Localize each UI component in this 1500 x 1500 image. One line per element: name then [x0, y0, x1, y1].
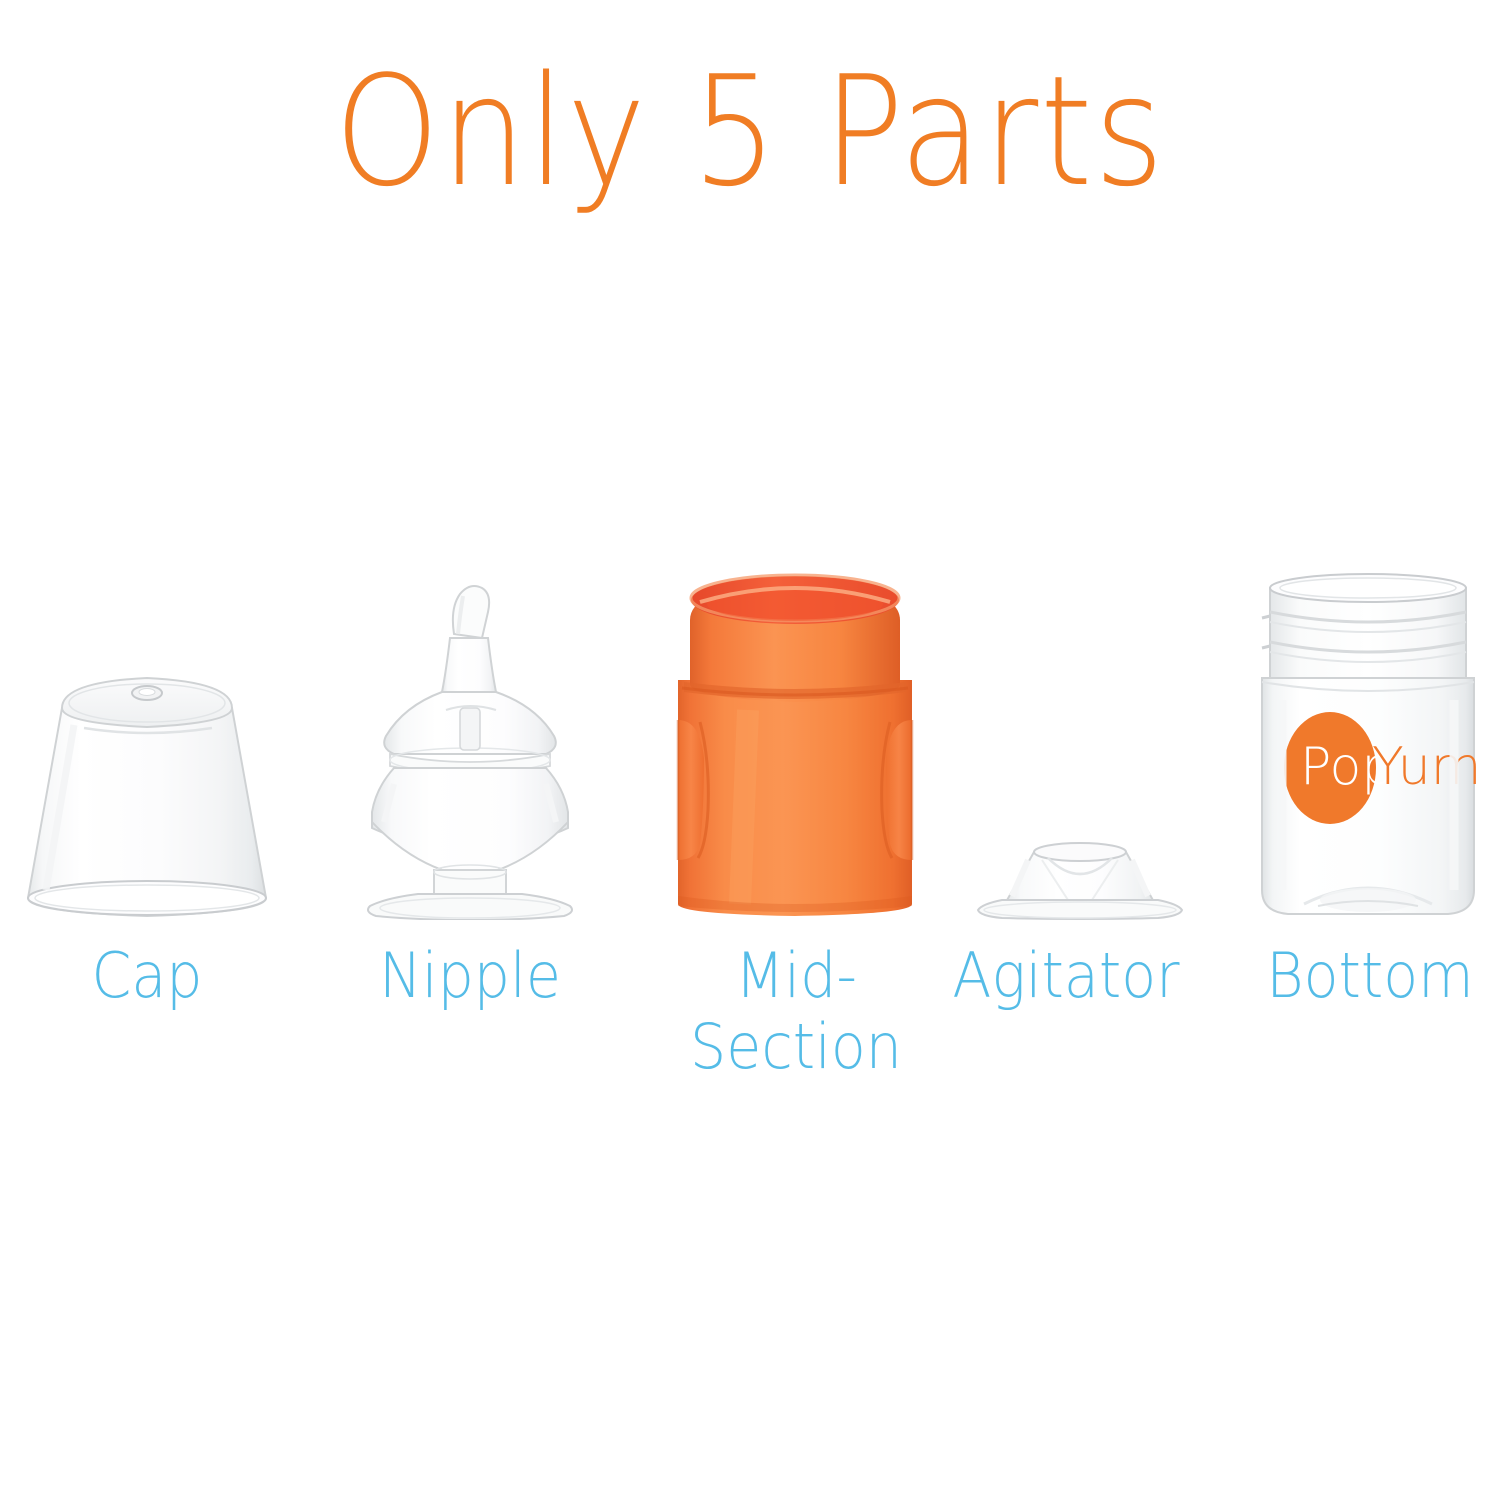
label-agitator: Agitator: [939, 940, 1193, 1011]
parts-row: Pop Yum: [0, 560, 1500, 920]
label-cap: Cap: [32, 940, 262, 1011]
label-bottom: Bottom: [1256, 940, 1484, 1011]
bottle-nipple-icon: [350, 560, 590, 920]
bottle-cap-icon: [22, 560, 272, 920]
part-nipple: [350, 560, 590, 920]
bottle-midsection-icon: [670, 560, 920, 920]
part-bottom: Pop Yum: [1248, 560, 1488, 920]
page-title: Only 5 Parts: [90, 56, 1410, 208]
part-cap: [22, 560, 272, 920]
label-midsection: Mid-Section: [687, 940, 904, 1083]
logo-text-yum: Yum: [1372, 737, 1481, 797]
part-agitator: [972, 560, 1188, 920]
part-labels: Cap Nipple Mid-Section Agitator Bottom: [0, 940, 1500, 1140]
product-parts-diagram: Only 5 Parts: [0, 0, 1500, 1500]
bottle-agitator-icon: [972, 560, 1188, 920]
label-nipple: Nipple: [358, 940, 582, 1011]
bottle-bottom-jar-icon: Pop Yum: [1248, 560, 1488, 920]
part-midsection: [670, 560, 920, 920]
